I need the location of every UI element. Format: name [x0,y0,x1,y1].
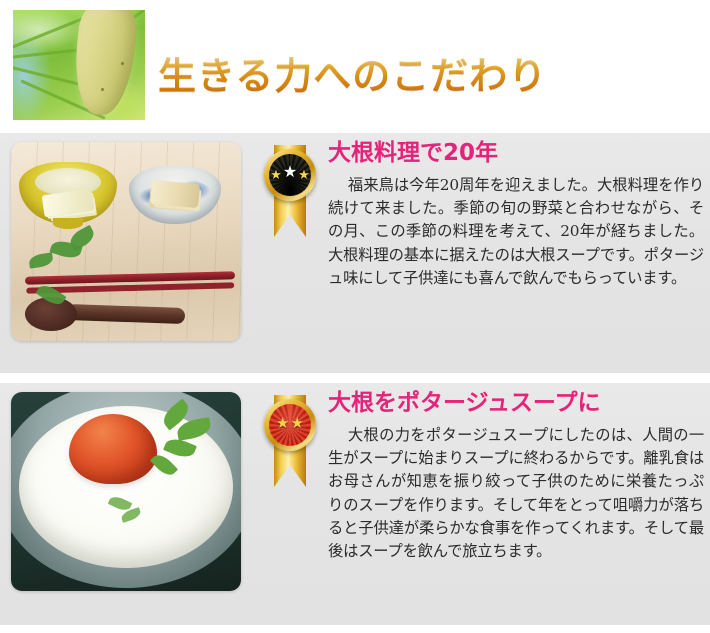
star-icon: ★ [291,417,304,432]
header-photo [13,10,145,120]
daikon-slices [42,189,95,218]
star-icon: ★ [283,165,297,181]
section-photo-potage-soup [11,392,241,591]
section-text-block: 大根料理で20年 福来鳥は今年20周年を迎えました。大根料理を作り続けて来ました… [328,139,704,290]
medal-face: ★ ★ ★ [269,154,311,196]
medal-stars: ★ ★ [276,417,304,432]
medal-disc: ★ ★ ★ [264,149,316,201]
section-divider-gap [0,373,710,383]
page-footer-gap [0,625,710,633]
section-daikon-cuisine: ★ ★ ★ 大根料理で20年 福来鳥は今年20周年を迎えました。大根料理を作り続… [0,133,710,373]
star-icon: ★ [298,168,310,181]
section-heading: 大根をポタージュスープに [328,389,704,418]
section-text-block: 大根をポタージュスープに 大根の力をポタージュスープにしたのは、人間の一生がスー… [328,389,704,563]
medal-disc: ★ ★ [264,399,316,451]
award-medal-2-star: ★ ★ [261,391,319,489]
medal-stars: ★ ★ ★ [270,167,310,181]
section-photo-daikon-dishes [11,142,241,341]
section-paragraph: 大根の力をポタージュスープにしたのは、人間の一生がスープに始まりスープに終わるか… [328,424,704,564]
star-icon: ★ [270,168,282,181]
speck-dot [121,62,124,65]
stir-fried-daikon [150,180,200,208]
page-title: 生きる力へのこだわり [158,57,547,95]
star-icon: ★ [276,417,289,432]
section-daikon-potage: ★ ★ 大根をポタージュスープに 大根の力をポタージュスープにしたのは、人間の一… [0,383,710,625]
section-paragraph: 福来鳥は今年20周年を迎えました。大根料理を作り続けて来ました。季節の旬の野菜と… [328,174,704,290]
section-heading: 大根料理で20年 [328,139,704,168]
tomato-garnish [69,414,157,484]
page-header: 生きる力へのこだわり [0,0,710,133]
speck-dot [101,88,104,91]
medal-face: ★ ★ [269,404,311,446]
award-medal-3-star: ★ ★ ★ [261,141,319,239]
